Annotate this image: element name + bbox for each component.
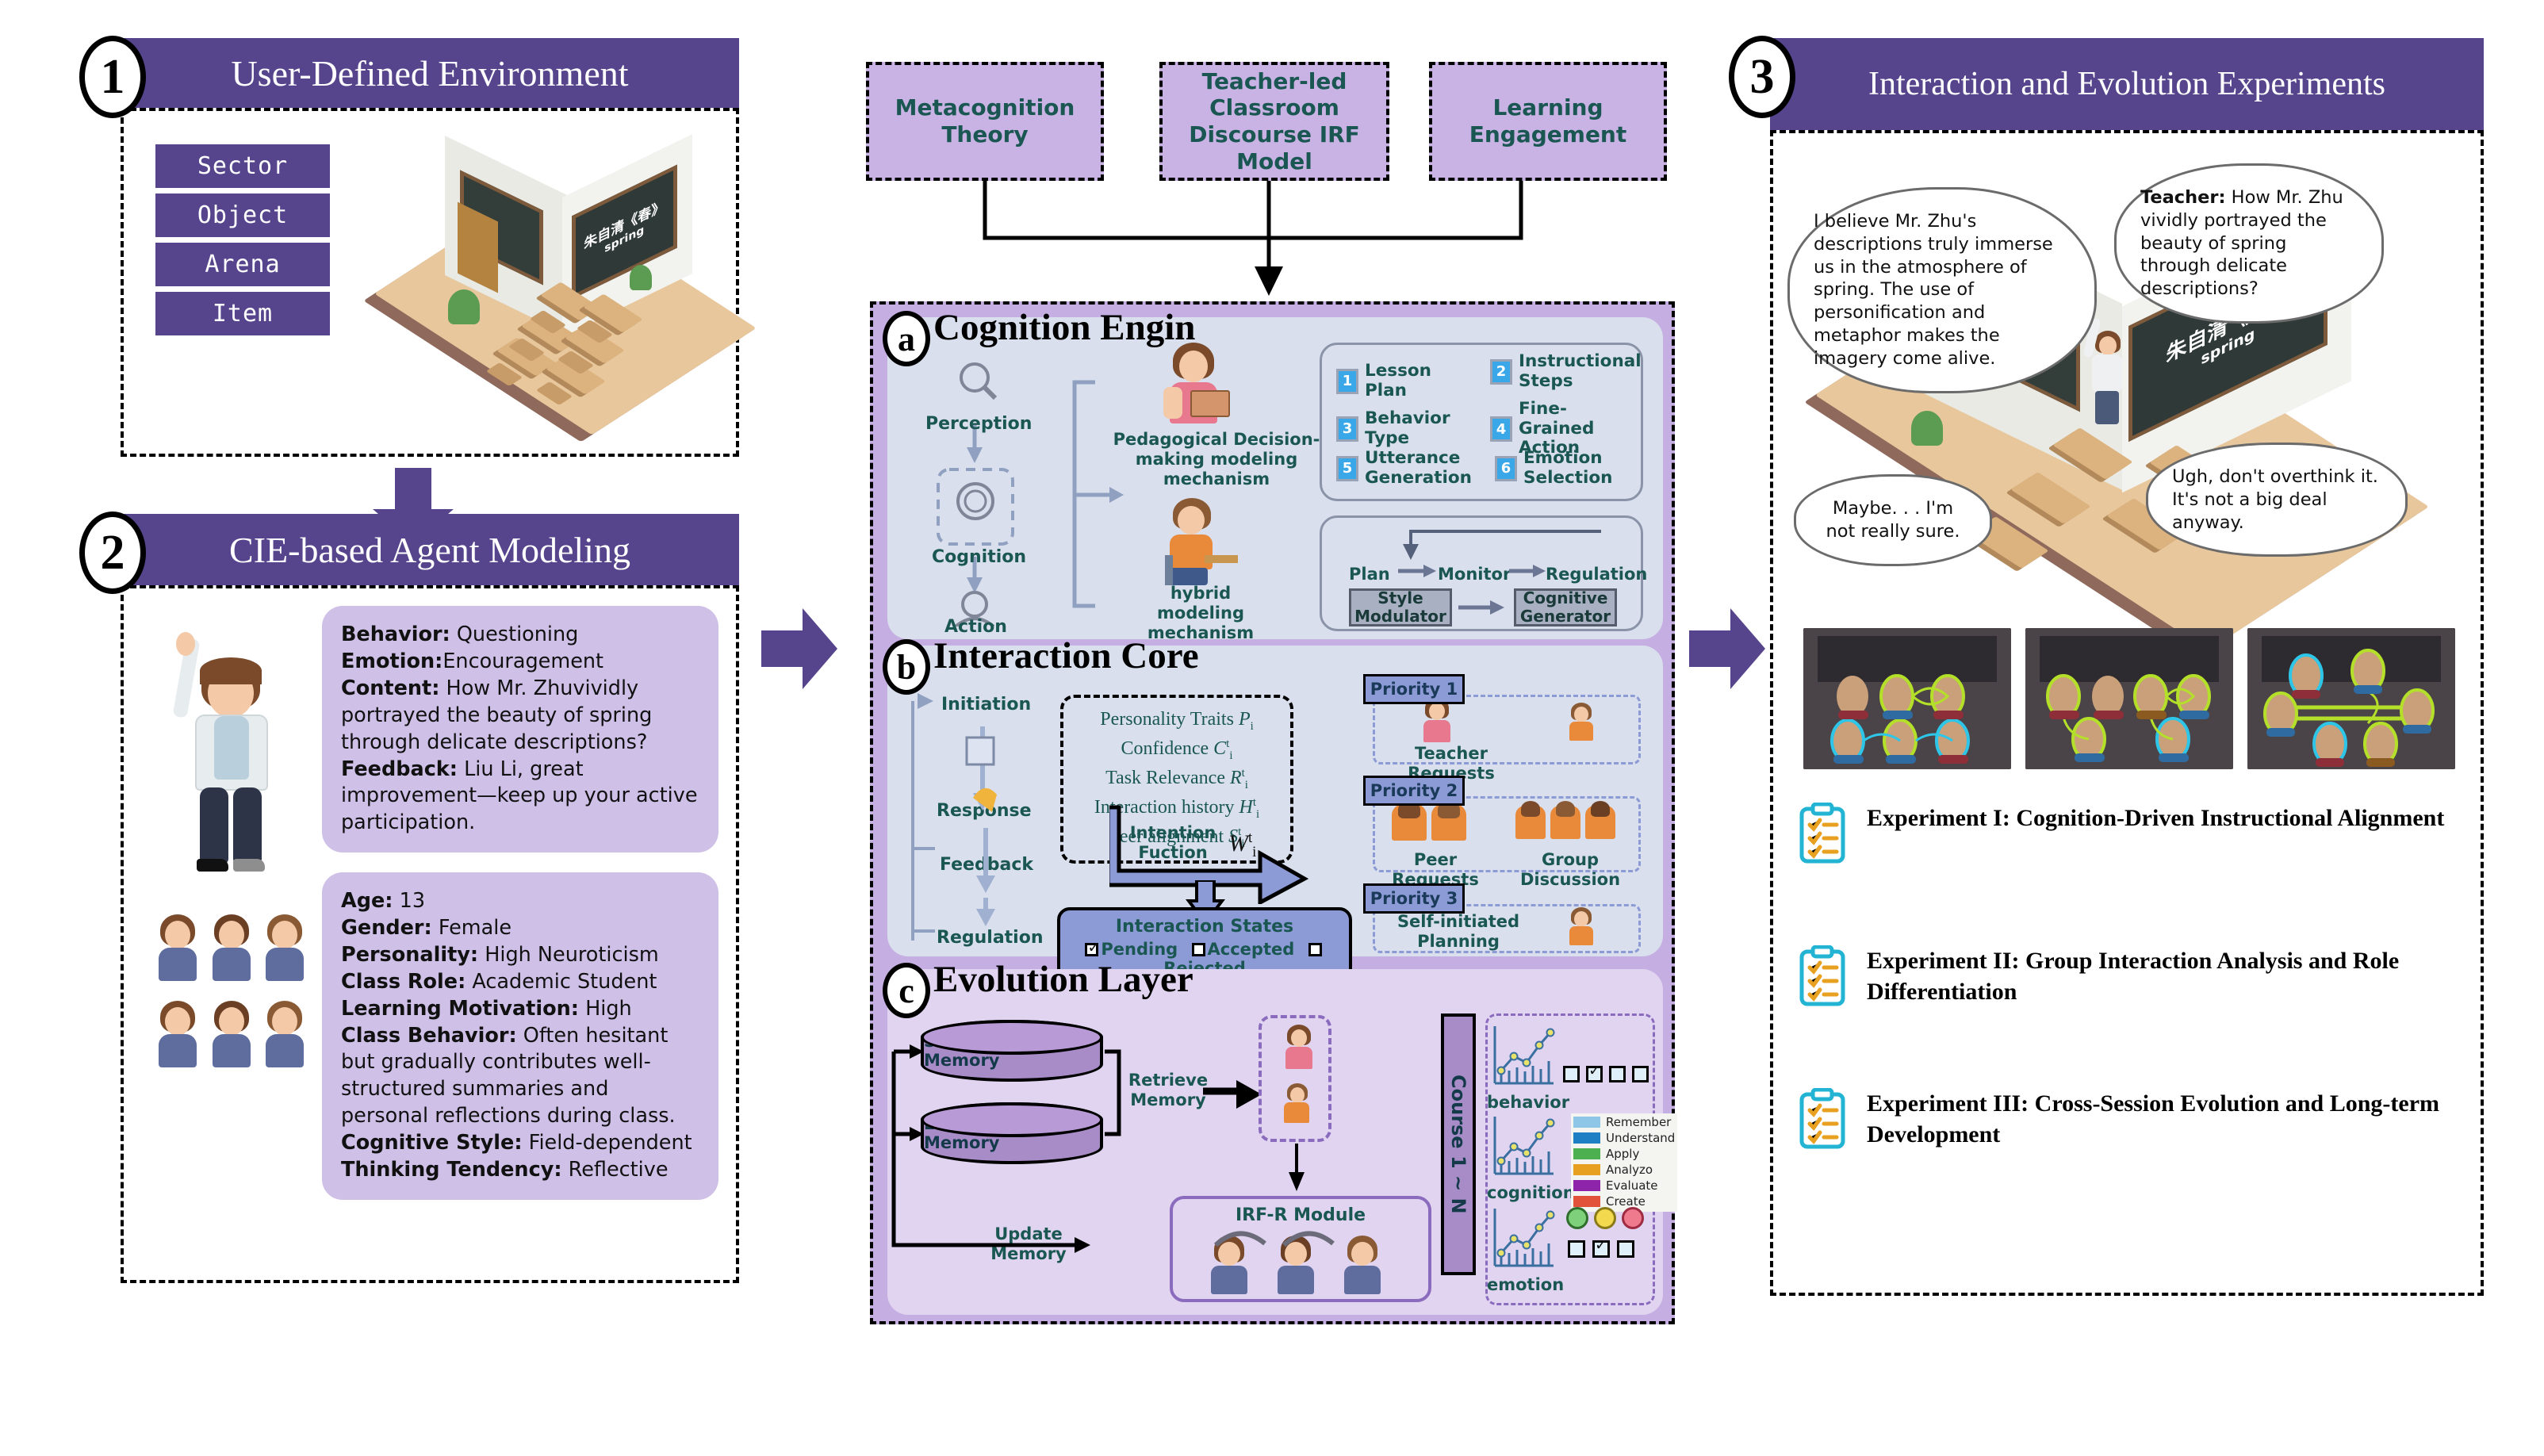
student-age-value: 13: [400, 889, 425, 913]
state-pending-label: Pending: [1101, 940, 1178, 959]
experiment-1-title: Cognition-Driven Instructional Alignment: [2016, 805, 2444, 831]
agents-to-module-arrow: [1281, 1142, 1312, 1194]
scene-teacher-figure: [2086, 331, 2128, 426]
student-age-row: Age: 13: [341, 888, 699, 915]
emotion-option-1[interactable]: [1568, 1240, 1585, 1258]
experiment-2-text: Experiment II: Group Interaction Analysi…: [1867, 945, 2457, 1007]
emotion-checkbox-row: [1568, 1240, 1637, 1258]
badge-6: 6: [1495, 456, 1517, 481]
clipboard-icon: [1799, 803, 1846, 864]
theory-box-metacognition: Metacognition Theory: [866, 62, 1104, 181]
priority-2-peer-icons: [1389, 801, 1476, 845]
update-memory-label: Update Memory: [984, 1224, 1073, 1264]
teacher-profile-card: Behavior: Questioning Emotion:Encouragem…: [322, 606, 718, 853]
behavior-option-2[interactable]: [1586, 1066, 1603, 1082]
item-utterance-generation-label: Utterance Generation: [1365, 449, 1479, 488]
environment-chip-list: Sector Object Arena Item: [155, 144, 330, 341]
factor-task-relevance-symbol: R: [1230, 768, 1242, 788]
panel-one-title: User-Defined Environment: [121, 38, 739, 109]
chip-item[interactable]: Item: [155, 292, 330, 335]
network-graph-1: [1803, 628, 2011, 769]
priority-3-student-icon: [1563, 907, 1603, 948]
cloud-student-dismissive: Ugh, don't overthink it. It's not a big …: [2146, 443, 2408, 557]
course-range-bar: Course 1 ~ N: [1441, 1013, 1476, 1275]
factor-task-relevance-label: Task Relevance: [1105, 768, 1225, 788]
student-avatar: [149, 910, 201, 994]
legend-swatch-create: [1573, 1196, 1600, 1207]
cloud-teacher-question: Teacher: How Mr. Zhu vividly portrayed t…: [2114, 163, 2384, 324]
legend-swatch-remember: [1573, 1117, 1600, 1128]
irf-transition-arcs: [1211, 1226, 1354, 1248]
cognition-engine-panel: a Cognition Engin Perception Cognition A…: [887, 317, 1663, 639]
item-instructional-steps-label: Instructional Steps: [1519, 352, 1642, 391]
badge-2: 2: [1490, 359, 1512, 385]
legend-remember: Remember: [1573, 1115, 1675, 1129]
student-avatar: [256, 910, 308, 994]
item-emotion-selection[interactable]: 6 Emotion Selection: [1495, 449, 1638, 488]
clipboard-icon: [1799, 1088, 1846, 1150]
emotion-chart: [1488, 1204, 1557, 1277]
theory-box-irf-model: Teacher-led Classroom Discourse IRF Mode…: [1159, 62, 1389, 181]
style-modulator-box[interactable]: Style Modulator: [1349, 588, 1452, 626]
cloud-teacher-question-prefix: Teacher:: [2140, 187, 2226, 208]
teacher-emotion-label: Emotion:: [341, 649, 443, 673]
legend-analyze: Analyzo: [1573, 1163, 1675, 1177]
teacher-content-row: Content: How Mr. Zhuvividly portrayed th…: [341, 676, 699, 757]
experiment-2-label: Experiment II:: [1867, 948, 2019, 974]
arrow-middle-to-panel3: [1689, 630, 1730, 667]
student-personality-value: High Neuroticism: [485, 943, 658, 967]
factor-confidence-symbol: C: [1213, 738, 1226, 759]
student-avatar: [256, 996, 308, 1080]
panel-one-number: 1: [79, 36, 146, 118]
legend-remember-label: Remember: [1606, 1115, 1671, 1129]
retrieved-agents-box: [1259, 1015, 1331, 1142]
state-pending[interactable]: Pending: [1085, 940, 1178, 959]
priority-1-student-icon: [1563, 703, 1603, 744]
interaction-states-title: Interaction States: [1068, 917, 1341, 937]
priority-1-tag[interactable]: Priority 1: [1363, 674, 1465, 704]
item-lesson-plan[interactable]: 1 Lesson Plan: [1336, 362, 1479, 400]
behavior-track-label: behavior: [1487, 1093, 1560, 1113]
theory-to-engine-connector: [864, 181, 1673, 300]
item-emotion-selection-label: Emotion Selection: [1523, 449, 1638, 488]
arrow-panel1-to-panel2: [395, 468, 431, 509]
interaction-core-title: Interaction Core: [933, 634, 1199, 677]
network-graph-3: [2247, 628, 2455, 769]
interaction-core-panel: b Interaction Core Initiation Response F…: [887, 646, 1663, 956]
panel-b-letter: b: [883, 639, 930, 695]
student-personality-row: Personality: High Neuroticism: [341, 942, 699, 969]
regulation-inline-arrows: [1331, 560, 1649, 584]
feedback-down-arrow: [970, 825, 1002, 928]
retrieve-memory-label: Retrieve Memory: [1124, 1071, 1213, 1110]
student-group-avatars: [149, 910, 308, 1080]
student-gender-label: Gender:: [341, 916, 432, 940]
student-personality-label: Personality:: [341, 943, 478, 967]
panel-c-letter: c: [883, 963, 930, 1018]
student-classrole-label: Class Role:: [341, 970, 466, 994]
panel-a-letter: a: [883, 311, 930, 366]
student-profile-card: Age: 13 Gender: Female Personality: High…: [322, 872, 718, 1200]
state-rejected-checkbox[interactable]: [1308, 943, 1322, 956]
network-strip-1: [1803, 628, 2011, 769]
priority-2-tag[interactable]: Priority 2: [1363, 776, 1465, 806]
factor-confidence-sub: i: [1229, 749, 1232, 762]
cloud-student-unsure: Maybe. . . I'm not really sure.: [1794, 474, 1992, 566]
classroom-isometric-illustration: 朱自清《春》 spring: [411, 128, 720, 438]
flow-label-cognition: Cognition: [932, 547, 1026, 567]
student-cognitivestyle-row: Cognitive Style: Field-dependent: [341, 1130, 699, 1157]
clipboard-icon: [1799, 945, 1846, 1007]
factor-task-relevance: Task Relevance Rti: [1075, 764, 1279, 794]
legend-understand: Understand: [1573, 1131, 1675, 1145]
network-strip-2: [2025, 628, 2233, 769]
behavior-checkbox-row: [1563, 1066, 1651, 1082]
theory-foundations-row: Metacognition Theory Teacher-led Classro…: [864, 62, 1673, 181]
legend-evaluate: Evaluate: [1573, 1178, 1675, 1193]
item-instructional-steps[interactable]: 2 Instructional Steps: [1490, 352, 1633, 391]
cognition-chart: [1488, 1112, 1557, 1185]
panel-two-body: Behavior: Questioning Emotion:Encouragem…: [121, 585, 739, 1283]
teacher-behavior-label: Behavior:: [341, 623, 450, 646]
network-strip-3: [2247, 628, 2455, 769]
perception-cognition-action-flow: [919, 357, 1078, 626]
chip-object[interactable]: Object: [155, 193, 330, 237]
neutral-face-icon: [1594, 1207, 1616, 1229]
experiment-row-3: Experiment III: Cross-Session Evolution …: [1799, 1088, 2465, 1150]
behavior-option-1[interactable]: [1563, 1066, 1580, 1082]
student-motivation-label: Learning Motivation:: [341, 997, 579, 1021]
student-avatar: [203, 996, 255, 1080]
factor-personality-traits: Personality Traits Pi: [1075, 706, 1279, 735]
legend-evaluate-label: Evaluate: [1606, 1178, 1658, 1193]
student-avatar: [149, 996, 201, 1080]
irf-r-module-box: IRF-R Module: [1170, 1196, 1431, 1302]
priority-3-label-self-initiated-planning: Self-initiated Planning: [1395, 912, 1522, 952]
panel-three-body: 朱自清《春》 spring I believe Mr. Zhu's descri…: [1770, 130, 2484, 1296]
teacher-emotion-row: Emotion:Encouragement: [341, 649, 699, 676]
emotion-face-row: [1566, 1207, 1644, 1229]
happy-face-icon: [1566, 1207, 1588, 1229]
evolution-layer-panel: c Evolution Layer Short-term Memory Long…: [887, 969, 1663, 1315]
state-pending-checkbox[interactable]: [1085, 943, 1098, 956]
behavior-chart: [1488, 1021, 1557, 1094]
panel-two-number: 2: [79, 512, 146, 594]
cognition-engine-title: Cognition Engin: [933, 306, 1195, 349]
framework-middle-panel: a Cognition Engin Perception Cognition A…: [870, 301, 1675, 1324]
emotion-option-3[interactable]: [1617, 1240, 1634, 1258]
factor-confidence-label: Confidence: [1121, 738, 1209, 759]
factor-personality-traits-sub: i: [1251, 720, 1254, 733]
experiment-3-label: Experiment III:: [1867, 1090, 2029, 1117]
teacher-avatar: [155, 632, 306, 870]
experiment-row-1: Experiment I: Cognition-Driven Instructi…: [1799, 803, 2457, 864]
student-cognitivestyle-label: Cognitive Style:: [341, 1131, 523, 1155]
student-classbehavior-row: Class Behavior: Often hesitant but gradu…: [341, 1023, 699, 1131]
state-accepted[interactable]: Accepted: [1192, 940, 1295, 959]
cloud-student-dismissive-text: Ugh, don't overthink it. It's not a big …: [2172, 466, 2378, 533]
priority-3-tag[interactable]: Priority 3: [1363, 883, 1465, 914]
legend-swatch-understand: [1573, 1132, 1600, 1144]
state-accepted-label: Accepted: [1208, 940, 1295, 959]
cognitive-generator-box[interactable]: Cognitive Generator: [1514, 588, 1617, 626]
modulator-to-generator-arrow: [1455, 596, 1511, 620]
emotion-option-2[interactable]: [1592, 1240, 1610, 1258]
flow-label-initiation: Initiation: [941, 695, 1031, 715]
badge-4: 4: [1490, 416, 1512, 442]
student-age-label: Age:: [341, 889, 393, 913]
panel-three-title: Interaction and Evolution Experiments: [1770, 38, 2484, 132]
behavior-option-4[interactable]: [1632, 1066, 1649, 1082]
teacher-content-label: Content:: [341, 676, 439, 700]
evolution-layer-title: Evolution Layer: [933, 958, 1193, 1001]
factor-personality-traits-label: Personality Traits: [1100, 709, 1234, 730]
teacher-feedback-label: Feedback:: [341, 757, 458, 781]
network-graph-2: [2025, 628, 2233, 769]
irf-r-module-label: IRF-R Module: [1173, 1205, 1428, 1226]
student-thinking-label: Thinking Tendency:: [341, 1158, 562, 1182]
pedagogical-mechanism-label: Pedagogical Decision-making modeling mec…: [1109, 430, 1324, 489]
factor-task-relevance-sub: i: [1245, 779, 1248, 791]
item-behavior-type[interactable]: 3 Behavior Type: [1336, 409, 1479, 448]
student-gender-value: Female: [439, 916, 511, 940]
chip-arena[interactable]: Arena: [155, 243, 330, 286]
item-utterance-generation[interactable]: 5 Utterance Generation: [1336, 449, 1479, 488]
factor-confidence-sup: t: [1226, 738, 1229, 750]
factor-task-relevance-sup: t: [1242, 767, 1245, 780]
teacher-behavior-value: Questioning: [457, 623, 579, 646]
emotion-track-label: emotion: [1487, 1275, 1560, 1295]
panel-one-body: Sector Object Arena Item 朱自清《春》 spring: [121, 108, 739, 457]
retrieve-memory-arrow: [1201, 1079, 1265, 1110]
priority-1-teacher-icon: [1416, 698, 1460, 742]
arrow-panel2-to-middle: [761, 630, 803, 667]
priority-2-group-icons: [1514, 801, 1625, 845]
behavior-option-3[interactable]: [1609, 1066, 1626, 1082]
student-classrole-row: Class Role: Academic Student: [341, 969, 699, 996]
student-classrole-value: Academic Student: [472, 970, 657, 994]
bloom-taxonomy-legend: Remember Understand Apply Analyzo Evalua…: [1571, 1113, 1677, 1212]
item-lesson-plan-label: Lesson Plan: [1365, 362, 1479, 400]
student-classbehavior-label: Class Behavior:: [341, 1024, 517, 1048]
experiment-3-text: Experiment III: Cross-Session Evolution …: [1867, 1088, 2465, 1150]
mechanism-bracket: [1068, 379, 1124, 609]
flow-label-perception: Perception: [925, 414, 1032, 434]
chip-sector[interactable]: Sector: [155, 144, 330, 188]
legend-apply-label: Apply: [1606, 1147, 1639, 1161]
experiment-1-text: Experiment I: Cognition-Driven Instructi…: [1867, 803, 2444, 833]
teacher-behavior-row: Behavior: Questioning: [341, 622, 699, 649]
experiment-row-2: Experiment II: Group Interaction Analysi…: [1799, 945, 2457, 1007]
teacher-feedback-row: Feedback: Liu Li, great improvement—keep…: [341, 757, 699, 837]
state-accepted-checkbox[interactable]: [1192, 943, 1205, 956]
factor-personality-traits-symbol: P: [1239, 709, 1251, 730]
seated-student-icon: [1149, 496, 1236, 584]
scene-plant: [1911, 411, 1943, 446]
cloud-student-reflection-text: I believe Mr. Zhu's descriptions truly i…: [1814, 211, 2053, 369]
badge-1: 1: [1336, 369, 1358, 394]
badge-5: 5: [1336, 456, 1358, 481]
student-avatar: [203, 910, 255, 994]
student-motivation-row: Learning Motivation: High: [341, 996, 699, 1023]
legend-swatch-apply: [1573, 1148, 1600, 1159]
item-behavior-type-label: Behavior Type: [1365, 409, 1479, 448]
student-motivation-value: High: [585, 997, 632, 1021]
plant-right: [630, 265, 652, 290]
panel-three-number: 3: [1729, 36, 1795, 118]
flow-label-regulation: Regulation: [937, 928, 1044, 948]
cloud-student-reflection: I believe Mr. Zhu's descriptions truly i…: [1787, 187, 2097, 393]
cloud-student-unsure-text: Maybe. . . I'm not really sure.: [1826, 498, 1960, 542]
legend-apply: Apply: [1573, 1147, 1675, 1161]
legend-swatch-analyze: [1573, 1164, 1600, 1175]
legend-understand-label: Understand: [1606, 1131, 1675, 1145]
cognition-track-label: cognition: [1487, 1183, 1563, 1203]
sad-face-icon: [1622, 1207, 1644, 1229]
legend-swatch-evaluate: [1573, 1180, 1600, 1191]
factor-confidence: Confidence Cti: [1075, 735, 1279, 764]
panel-two-title: CIE-based Agent Modeling: [121, 514, 739, 587]
experiment-1-label: Experiment I:: [1867, 805, 2010, 831]
student-thinking-row: Thinking Tendency: Reflective: [341, 1157, 699, 1184]
badge-3: 3: [1336, 416, 1358, 442]
teacher-emotion-value: Encouragement: [443, 649, 603, 673]
student-gender-row: Gender: Female: [341, 915, 699, 942]
plant-left: [448, 289, 480, 324]
theory-box-learning-engagement: Learning Engagement: [1429, 62, 1667, 181]
student-cognitivestyle-value: Field-dependent: [529, 1131, 692, 1155]
legend-analyze-label: Analyzo: [1606, 1163, 1653, 1177]
teacher-with-book-icon: [1149, 341, 1236, 428]
student-thinking-value: Reflective: [569, 1158, 669, 1182]
priority-2-label-group-discussion: Group Discussion: [1500, 850, 1641, 890]
